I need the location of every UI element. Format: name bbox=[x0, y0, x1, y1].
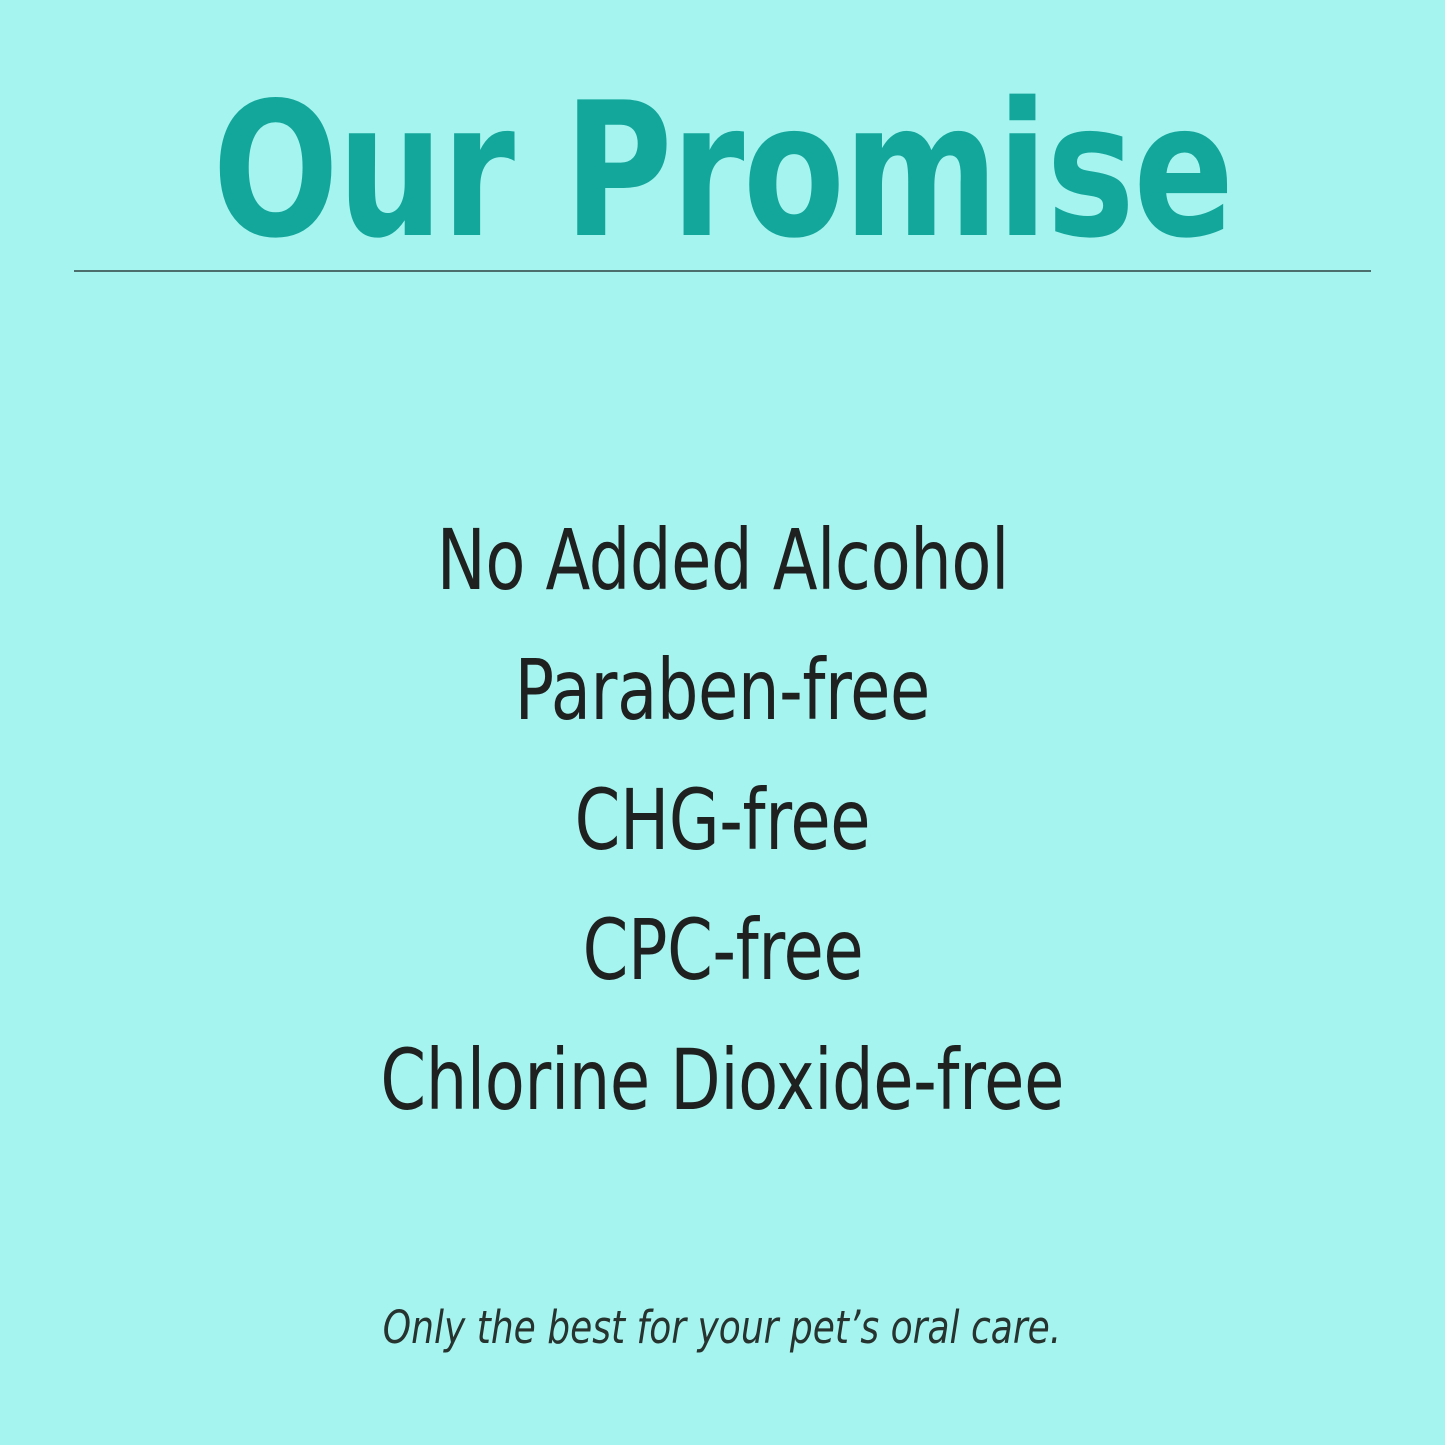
page-title: Our Promise bbox=[145, 78, 1301, 264]
list-item: CHG-free bbox=[0, 755, 1445, 885]
claim-label: CHG-free bbox=[575, 755, 870, 885]
footer-tagline-text: Only the best for your pet’s oral care. bbox=[383, 1297, 1061, 1359]
list-item: CPC-free bbox=[0, 885, 1445, 1015]
list-item: No Added Alcohol bbox=[0, 495, 1445, 625]
footer-tagline: Only the best for your pet’s oral care. bbox=[0, 1297, 1445, 1359]
list-item: Paraben-free bbox=[0, 625, 1445, 755]
claim-label: No Added Alcohol bbox=[436, 495, 1008, 625]
claim-label: Paraben-free bbox=[515, 625, 930, 755]
our-promise-card: Our Promise No Added Alcohol Paraben-fre… bbox=[0, 0, 1445, 1445]
claim-label: CPC-free bbox=[582, 885, 863, 1015]
header-block: Our Promise bbox=[0, 0, 1445, 300]
title-divider bbox=[74, 270, 1371, 272]
claim-label: Chlorine Dioxide-free bbox=[381, 1015, 1065, 1145]
list-item: Chlorine Dioxide-free bbox=[0, 1015, 1445, 1145]
claims-list: No Added Alcohol Paraben-free CHG-free C… bbox=[0, 495, 1445, 1145]
